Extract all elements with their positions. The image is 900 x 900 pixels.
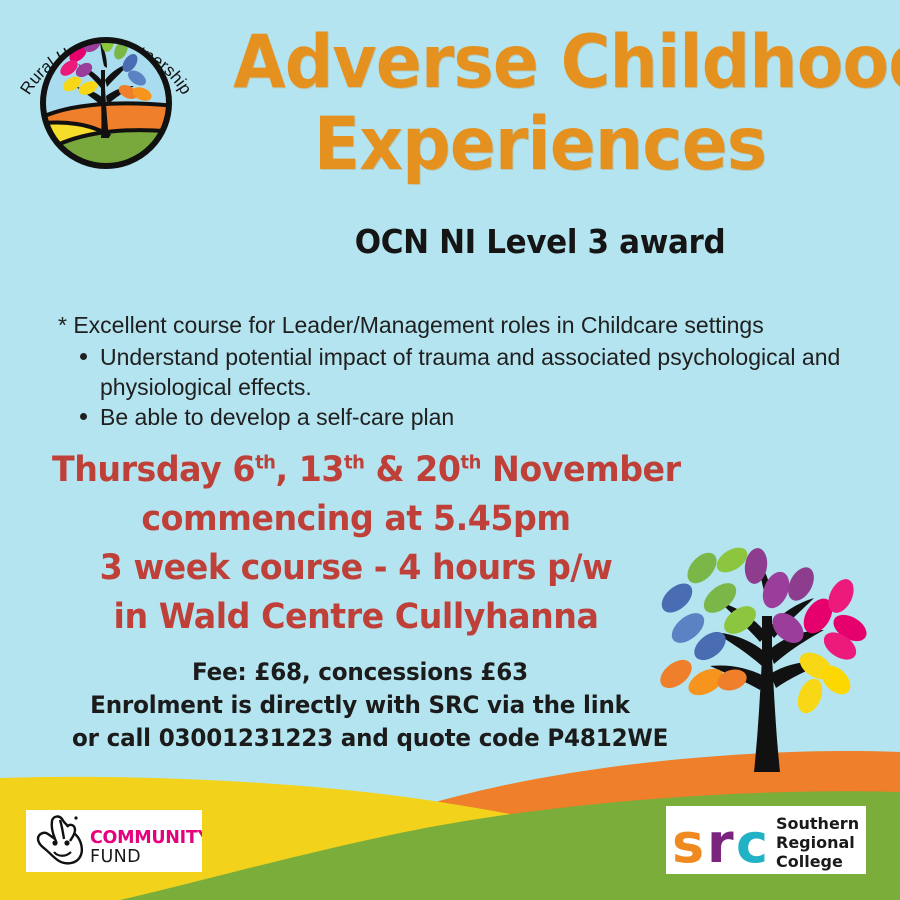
src-mark-c: c [736, 812, 768, 874]
src-name-line-3: College [776, 852, 843, 871]
course-lead-line: * Excellent course for Leader/Management… [58, 310, 858, 340]
schedule-block: Thursday 6th, 13th & 20th November comme… [52, 446, 660, 642]
multicolour-tree-illustration [636, 524, 898, 774]
community-fund-logo-artwork: COMMUNITY FUND [26, 810, 202, 872]
src-logo: s r c Southern Regional College [666, 806, 866, 874]
ordinal-suffix-3: th [461, 451, 481, 473]
registered-mark [74, 816, 77, 819]
fee-line: Fee: £68, concessions £63 [72, 656, 648, 689]
src-mark-r: r [707, 812, 734, 874]
community-fund-word-2: FUND [90, 847, 141, 867]
schedule-date-mid-1: , 13 [275, 450, 344, 490]
schedule-venue-line: in Wald Centre Cullyhanna [52, 593, 660, 642]
community-fund-word-1: COMMUNITY [90, 828, 202, 848]
title-line-2: Experiences [233, 104, 847, 186]
list-item: Be able to develop a self-care plan [74, 402, 858, 432]
poster-canvas: Rural Health Partnership [0, 0, 900, 900]
src-mark-s: s [672, 812, 704, 874]
src-name-line-1: Southern [776, 814, 859, 833]
ordinal-suffix-1: th [255, 451, 275, 473]
src-logo-artwork: s r c Southern Regional College [666, 806, 866, 874]
qualification-subtitle: OCN NI Level 3 award [230, 222, 850, 261]
community-fund-logo: COMMUNITY FUND [26, 810, 202, 872]
rural-health-partnership-logo: Rural Health Partnership [6, 8, 206, 178]
bullet-dot-icon [80, 413, 87, 420]
bullet-dot-icon [80, 353, 87, 360]
list-item-label: Be able to develop a self-care plan [100, 404, 454, 430]
schedule-date-mid-2: & 20 [364, 450, 460, 490]
list-item: Understand potential impact of trauma an… [74, 342, 858, 402]
schedule-date-prefix: Thursday 6 [52, 450, 255, 490]
page-title: Adverse Childhood Experiences [210, 22, 870, 186]
schedule-dates-line: Thursday 6th, 13th & 20th November [52, 446, 660, 495]
enrolment-line: Enrolment is directly with SRC via the l… [72, 689, 648, 722]
title-line-1: Adverse Childhood [233, 22, 847, 104]
course-points: * Excellent course for Leader/Management… [58, 310, 858, 432]
schedule-duration-line: 3 week course - 4 hours p/w [52, 544, 660, 593]
schedule-time-line: commencing at 5.45pm [52, 495, 660, 544]
src-name-line-2: Regional [776, 833, 855, 852]
fee-and-enrolment-block: Fee: £68, concessions £63 Enrolment is d… [72, 656, 648, 755]
course-bullet-list: Understand potential impact of trauma an… [58, 342, 858, 432]
ordinal-suffix-2: th [344, 451, 364, 473]
contact-line: or call 03001231223 and quote code P4812… [72, 722, 648, 755]
schedule-date-suffix: November [481, 450, 681, 490]
list-item-label: Understand potential impact of trauma an… [100, 344, 840, 400]
